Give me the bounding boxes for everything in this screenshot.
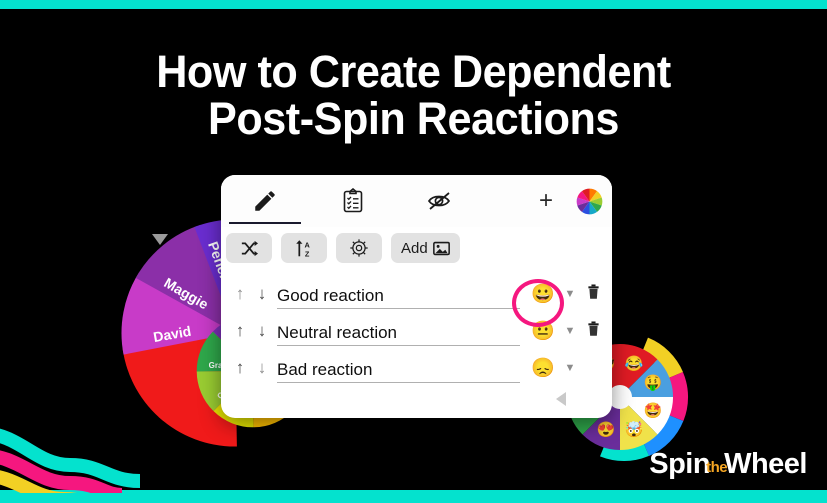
color-wheel-button[interactable]: [566, 175, 612, 227]
entry-text-input[interactable]: Bad reaction: [277, 353, 520, 383]
clipboard-icon: [341, 188, 365, 214]
trash-icon: [587, 284, 600, 300]
entries-editor-panel: +: [221, 175, 612, 418]
move-up-button[interactable]: ↑: [229, 322, 251, 339]
top-accent-bar: [0, 0, 827, 9]
entry-emoji[interactable]: 😞: [526, 356, 560, 380]
gear-icon: [349, 238, 369, 258]
emoji-wheel-slice: 🤩: [644, 401, 663, 419]
svg-text:Z: Z: [304, 249, 309, 258]
shuffle-icon: [240, 240, 259, 257]
entry-row: ↑ ↓ Bad reaction 😞 ▼: [221, 349, 612, 386]
color-wheel-icon: [576, 188, 603, 215]
logo-part-spin: Spin: [649, 448, 710, 481]
entry-text-value: Good reaction: [277, 287, 384, 305]
add-image-label: Add: [401, 240, 428, 257]
svg-text:A: A: [304, 240, 310, 249]
page-title: How to Create Dependent Post-Spin Reacti…: [0, 48, 827, 142]
move-down-button[interactable]: ↓: [251, 359, 273, 376]
brand-logo: Spin the Wheel: [649, 448, 807, 481]
add-image-button[interactable]: Add: [391, 233, 460, 263]
tab-hide[interactable]: [397, 175, 485, 227]
trash-icon: [587, 321, 600, 337]
entry-row: ↑ ↓ Neutral reaction 😐 ▼: [221, 312, 612, 349]
logo-part-the: the: [706, 459, 727, 476]
eye-slash-icon: [426, 189, 456, 213]
tab-edit[interactable]: [221, 175, 309, 227]
logo-part-wheel: Wheel: [724, 448, 807, 481]
entries-toolbar: A Z Add: [221, 227, 612, 269]
panel-tabbar: +: [221, 175, 612, 227]
move-down-button[interactable]: ↓: [251, 322, 273, 339]
entry-emoji[interactable]: 😐: [526, 319, 560, 343]
sort-az-icon: A Z: [295, 239, 314, 258]
title-line-2: Post-Spin Reactions: [17, 95, 811, 142]
delete-entry-button[interactable]: [580, 284, 606, 304]
entry-row: ↑ ↓ Good reaction 😀 ▼: [221, 275, 612, 312]
names-wheel-pointer: [152, 234, 168, 245]
tab-results[interactable]: [309, 175, 397, 227]
settings-button[interactable]: [336, 233, 382, 263]
entry-text-input[interactable]: Good reaction: [277, 279, 520, 309]
emoji-dropdown-caret-icon[interactable]: ▼: [560, 325, 580, 337]
emoji-wheel-slice: 🤯: [624, 421, 643, 439]
emoji-dropdown-caret-icon[interactable]: ▼: [560, 362, 580, 374]
title-line-1: How to Create Dependent: [17, 48, 811, 95]
entry-text-value: Neutral reaction: [277, 324, 397, 342]
image-icon: [433, 241, 450, 256]
emoji-wheel-slice: 😂: [624, 354, 643, 372]
add-tab-button[interactable]: +: [526, 175, 566, 227]
sort-button[interactable]: A Z: [281, 233, 327, 263]
shuffle-button[interactable]: [226, 233, 272, 263]
entry-emoji[interactable]: 😀: [526, 282, 560, 306]
delete-entry-button[interactable]: [580, 321, 606, 341]
entries-list: ↑ ↓ Good reaction 😀 ▼ ↑ ↓: [221, 269, 612, 386]
move-up-button[interactable]: ↑: [229, 359, 251, 376]
emoji-wheel-slice: 🤑: [644, 374, 663, 392]
poster-canvas: How to Create Dependent Post-Spin Reacti…: [0, 0, 827, 503]
entry-text-input[interactable]: Neutral reaction: [277, 316, 520, 346]
pencil-icon: [252, 188, 278, 214]
emoji-wheel-slice: 😍: [597, 421, 616, 439]
entry-text-value: Bad reaction: [277, 361, 372, 379]
emoji-dropdown-caret-icon[interactable]: ▼: [560, 288, 580, 300]
move-up-button[interactable]: ↑: [229, 285, 251, 302]
move-down-button[interactable]: ↓: [251, 285, 273, 302]
emoji-wheel-pointer: [556, 392, 566, 406]
